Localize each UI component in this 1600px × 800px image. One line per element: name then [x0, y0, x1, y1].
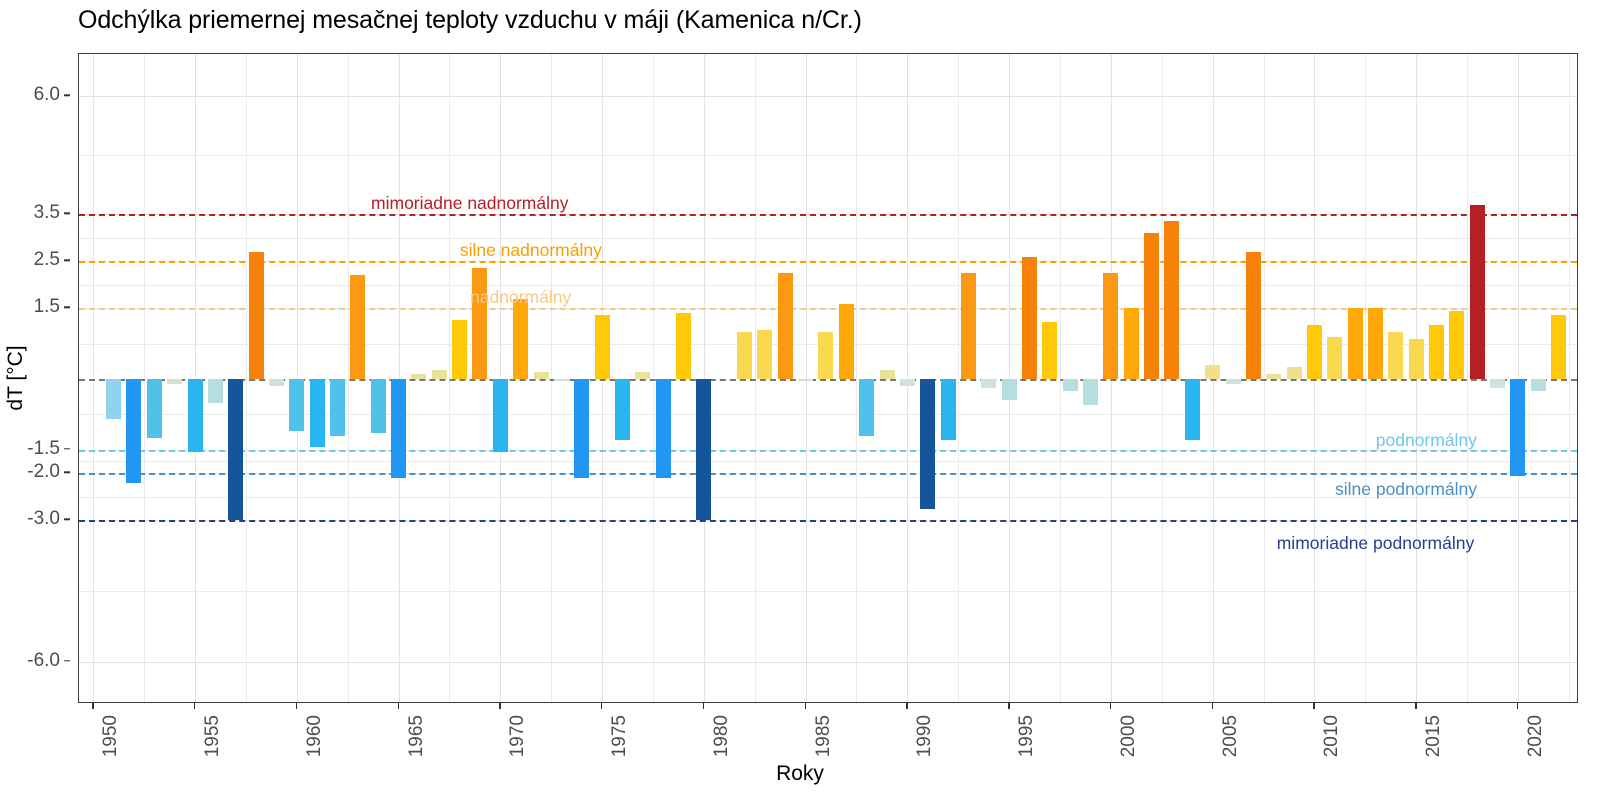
bar-1955: [188, 379, 203, 452]
gridline-minor-vertical: [755, 54, 756, 702]
gridline-minor-horizontal: [79, 155, 1577, 156]
bar-1980: [696, 379, 711, 520]
reference-line-1: [79, 261, 1577, 263]
gridline-minor-vertical: [1467, 54, 1468, 702]
reference-line-label: silne nadnormálny: [460, 240, 602, 261]
x-tick-label: 2005: [1220, 715, 1242, 757]
x-tick-label: 1965: [406, 715, 428, 757]
bar-1999: [1083, 379, 1098, 405]
bar-1993: [961, 273, 976, 379]
gridline-major-vertical: [399, 54, 400, 702]
bar-1966: [411, 374, 426, 379]
bar-1991: [920, 379, 935, 509]
gridline-minor-vertical: [958, 54, 959, 702]
reference-line-5: [79, 473, 1577, 475]
y-tick-label: -3.0: [27, 508, 60, 530]
bar-2012: [1348, 308, 1363, 379]
reference-line-4: [79, 450, 1577, 452]
y-tick-label: 3.5: [34, 202, 60, 224]
x-tick-mark: [1008, 703, 1009, 709]
gridline-minor-vertical: [653, 54, 654, 702]
bar-1984: [778, 273, 793, 379]
bar-2019: [1490, 379, 1505, 388]
bar-2000: [1103, 273, 1118, 379]
bar-1967: [432, 370, 447, 379]
bar-1954: [167, 379, 182, 384]
x-tick-mark: [194, 703, 195, 709]
bar-2021: [1531, 379, 1546, 391]
y-axis-title: dT [°C]: [4, 345, 28, 410]
bar-2001: [1124, 308, 1139, 379]
x-tick-label: 1990: [914, 715, 936, 757]
x-tick-mark: [1212, 703, 1213, 709]
bar-2017: [1449, 311, 1464, 379]
bar-1975: [595, 315, 610, 379]
gridline-minor-horizontal: [79, 285, 1577, 286]
bar-1979: [676, 313, 691, 379]
gridline-major-horizontal: [79, 662, 1577, 663]
bar-1960: [289, 379, 304, 431]
bar-1972: [534, 372, 549, 379]
bar-2016: [1429, 325, 1444, 379]
y-tick-label: -2.0: [27, 461, 60, 483]
x-tick-mark: [601, 703, 602, 709]
y-tick-mark: [64, 519, 70, 520]
bar-1988: [859, 379, 874, 436]
gridline-major-vertical: [93, 54, 94, 702]
bar-1971: [513, 299, 528, 379]
x-tick-label: 1970: [507, 715, 529, 757]
bar-2011: [1327, 337, 1342, 379]
bar-2007: [1246, 252, 1261, 379]
bar-1990: [900, 379, 915, 386]
bar-2009: [1287, 367, 1302, 379]
bar-2006: [1226, 379, 1241, 384]
bar-1970: [493, 379, 508, 452]
y-tick-label: 1.5: [34, 296, 60, 318]
bar-2010: [1307, 325, 1322, 379]
reference-line-label: nadnormálny: [470, 287, 571, 308]
x-tick-label: 1975: [609, 715, 631, 757]
y-tick-mark: [64, 448, 70, 449]
x-tick-mark: [906, 703, 907, 709]
gridline-minor-horizontal: [79, 461, 1577, 462]
gridline-minor-vertical: [144, 54, 145, 702]
bar-1987: [839, 304, 854, 379]
reference-line-label: podnormálny: [1376, 430, 1477, 451]
x-tick-label: 2020: [1525, 715, 1547, 757]
bar-1989: [880, 370, 895, 379]
x-tick-mark: [398, 703, 399, 709]
gridline-major-vertical: [806, 54, 807, 702]
bar-1969: [472, 268, 487, 379]
bar-2015: [1409, 339, 1424, 379]
bar-1956: [208, 379, 223, 403]
x-tick-label: 2015: [1423, 715, 1445, 757]
gridline-minor-vertical: [1060, 54, 1061, 702]
bar-1976: [615, 379, 630, 440]
bar-1992: [941, 379, 956, 440]
bar-1996: [1022, 257, 1037, 379]
reference-line-label: silne podnormálny: [1335, 479, 1477, 500]
bar-2008: [1266, 374, 1281, 379]
x-tick-label: 1980: [711, 715, 733, 757]
gridline-major-vertical: [195, 54, 196, 702]
y-tick-mark: [64, 307, 70, 308]
x-tick-mark: [1517, 703, 1518, 709]
y-tick-mark: [64, 212, 70, 213]
y-tick-label: -6.0: [27, 650, 60, 672]
bar-1983: [757, 330, 772, 379]
gridline-minor-vertical: [1365, 54, 1366, 702]
bar-2014: [1388, 332, 1403, 379]
bar-1997: [1042, 322, 1057, 379]
x-tick-label: 1955: [202, 715, 224, 757]
bar-1964: [371, 379, 386, 433]
bar-1952: [126, 379, 141, 483]
chart-title: Odchýlka priemernej mesačnej teploty vzd…: [78, 6, 862, 35]
y-tick-mark: [64, 95, 70, 96]
x-tick-mark: [1415, 703, 1416, 709]
y-tick-mark: [64, 660, 70, 661]
gridline-major-vertical: [500, 54, 501, 702]
bar-1961: [310, 379, 325, 447]
gridline-minor-vertical: [1569, 54, 1570, 702]
y-tick-mark: [64, 260, 70, 261]
x-tick-label: 1950: [100, 715, 122, 757]
x-tick-label: 1985: [813, 715, 835, 757]
gridline-minor-vertical: [1162, 54, 1163, 702]
x-axis-title: Roky: [0, 762, 1600, 786]
gridline-major-horizontal: [79, 96, 1577, 97]
x-tick-mark: [92, 703, 93, 709]
x-tick-mark: [805, 703, 806, 709]
gridline-major-vertical: [297, 54, 298, 702]
x-tick-mark: [1313, 703, 1314, 709]
gridline-minor-vertical: [348, 54, 349, 702]
bar-1957: [228, 379, 243, 520]
gridline-major-vertical: [704, 54, 705, 702]
gridline-minor-vertical: [1264, 54, 1265, 702]
bar-2004: [1185, 379, 1200, 440]
bar-1974: [574, 379, 589, 478]
bar-1995: [1002, 379, 1017, 400]
gridline-minor-vertical: [449, 54, 450, 702]
x-tick-label: 2010: [1321, 715, 1343, 757]
y-tick-label: 6.0: [34, 84, 60, 106]
reference-line-label: mimoriadne podnormálny: [1277, 533, 1474, 554]
bar-2022: [1551, 315, 1566, 379]
x-tick-mark: [499, 703, 500, 709]
bar-1973: [554, 379, 569, 381]
bar-2002: [1144, 233, 1159, 379]
bar-1985: [798, 379, 813, 381]
gridline-minor-vertical: [246, 54, 247, 702]
bar-2005: [1205, 365, 1220, 379]
y-tick-label: -1.5: [27, 438, 60, 460]
bar-1951: [106, 379, 121, 419]
gridline-minor-horizontal: [79, 591, 1577, 592]
bar-1982: [737, 332, 752, 379]
reference-line-0: [79, 214, 1577, 216]
bar-2013: [1368, 308, 1383, 379]
y-tick-mark: [64, 471, 70, 472]
bar-1977: [635, 372, 650, 379]
bar-1953: [147, 379, 162, 438]
bar-1994: [981, 379, 996, 388]
bar-1965: [391, 379, 406, 478]
gridline-major-vertical: [1518, 54, 1519, 702]
bar-1958: [249, 252, 264, 379]
bar-1963: [350, 275, 365, 379]
plot-panel: mimoriadne nadnormálnysilne nadnormálnyn…: [78, 53, 1578, 703]
x-tick-mark: [296, 703, 297, 709]
bar-1978: [656, 379, 671, 478]
gridline-major-vertical: [1009, 54, 1010, 702]
chart-root: Odchýlka priemernej mesačnej teploty vzd…: [0, 0, 1600, 800]
gridline-minor-horizontal: [79, 238, 1577, 239]
gridline-major-vertical: [907, 54, 908, 702]
x-tick-mark: [1110, 703, 1111, 709]
x-tick-label: 2000: [1118, 715, 1140, 757]
bar-1962: [330, 379, 345, 436]
bar-1998: [1063, 379, 1078, 391]
bar-2018: [1470, 205, 1485, 379]
y-tick-label: 2.5: [34, 249, 60, 271]
gridline-minor-vertical: [856, 54, 857, 702]
bar-1986: [818, 332, 833, 379]
reference-line-label: mimoriadne nadnormálny: [371, 193, 568, 214]
x-tick-label: 1960: [304, 715, 326, 757]
reference-line-6: [79, 520, 1577, 522]
bar-2003: [1164, 221, 1179, 379]
x-tick-mark: [703, 703, 704, 709]
x-tick-label: 1995: [1016, 715, 1038, 757]
bar-1968: [452, 320, 467, 379]
gridline-minor-vertical: [551, 54, 552, 702]
bar-1959: [269, 379, 284, 386]
bar-2020: [1510, 379, 1525, 476]
